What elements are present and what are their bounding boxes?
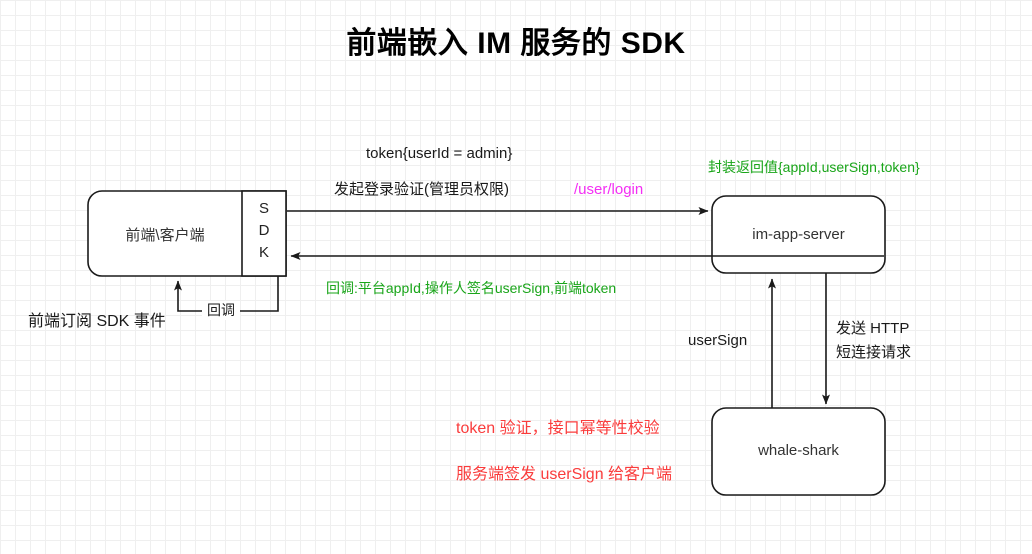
edge-label-wrapped-response: 封装返回值{appId,userSign,token} [708,158,920,177]
node-label-whale-shark: whale-shark [712,442,885,459]
annotation-subscribe-note: 前端订阅 SDK 事件 [28,311,166,333]
edge-label-usersign: userSign [688,331,747,351]
edge-label-user-login-path: /user/login [574,180,643,200]
sdk-letter-d: D [242,220,286,242]
edge-label-http-line2: 短连接请求 [836,343,911,363]
sdk-letter-k: K [242,242,286,264]
node-label-im-app-server: im-app-server [712,226,885,243]
diagram-canvas: 前端嵌入 IM 服务的 SDK 前端\客户端 S D K im-a [0,0,1032,554]
node-label-client: 前端\客户端 [88,224,242,245]
edge-label-token-userid: token{userId = admin} [366,144,512,164]
edge-label-login-verify: 发起登录验证(管理员权限) [334,180,509,200]
edge-label-callback: 回调 [202,301,240,320]
sdk-letter-s: S [242,198,286,220]
node-label-sdk: S D K [242,198,286,263]
edge-label-callback-payload: 回调:平台appId,操作人签名userSign,前端token [326,279,616,298]
edge-label-http-line1: 发送 HTTP [836,319,909,339]
annotation-token-verify-note: token 验证，接口幂等性校验 [456,418,660,440]
annotation-server-sign-note: 服务端签发 userSign 给客户端 [456,464,672,486]
